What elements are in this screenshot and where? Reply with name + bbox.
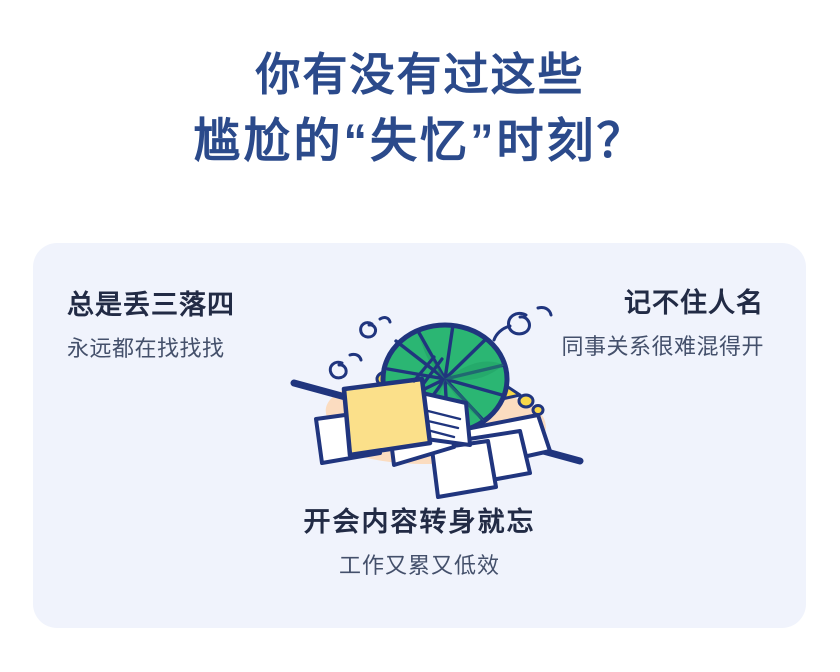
symptom-subtitle-lost-things: 永远都在找找找 — [67, 331, 235, 363]
symptom-subtitle-forget-meeting: 工作又累又低效 — [33, 548, 806, 580]
page-title: 你有没有过这些 尴尬的“失忆”时刻？ — [0, 48, 840, 169]
symptom-block-lost-things: 总是丢三落四 永远都在找找找 — [67, 283, 235, 363]
poster-page: 你有没有过这些 尴尬的“失忆”时刻？ 总是丢三落四 永远都在找找找 记不住人名 … — [0, 0, 840, 672]
symptom-subtitle-forget-names: 同事关系很难混得开 — [561, 329, 764, 361]
page-title-line-2: 尴尬的“失忆”时刻？ — [0, 113, 840, 168]
symptom-title-forget-names: 记不住人名 — [561, 281, 764, 320]
page-title-line-1: 你有没有过这些 — [0, 48, 840, 101]
symptom-block-forget-names: 记不住人名 同事关系很难混得开 — [561, 281, 764, 361]
symptoms-card: 总是丢三落四 永远都在找找找 记不住人名 同事关系很难混得开 开会内容转身就忘 … — [33, 243, 806, 628]
messy-desk-illustration — [288, 291, 588, 521]
symptom-title-lost-things: 总是丢三落四 — [67, 283, 235, 322]
